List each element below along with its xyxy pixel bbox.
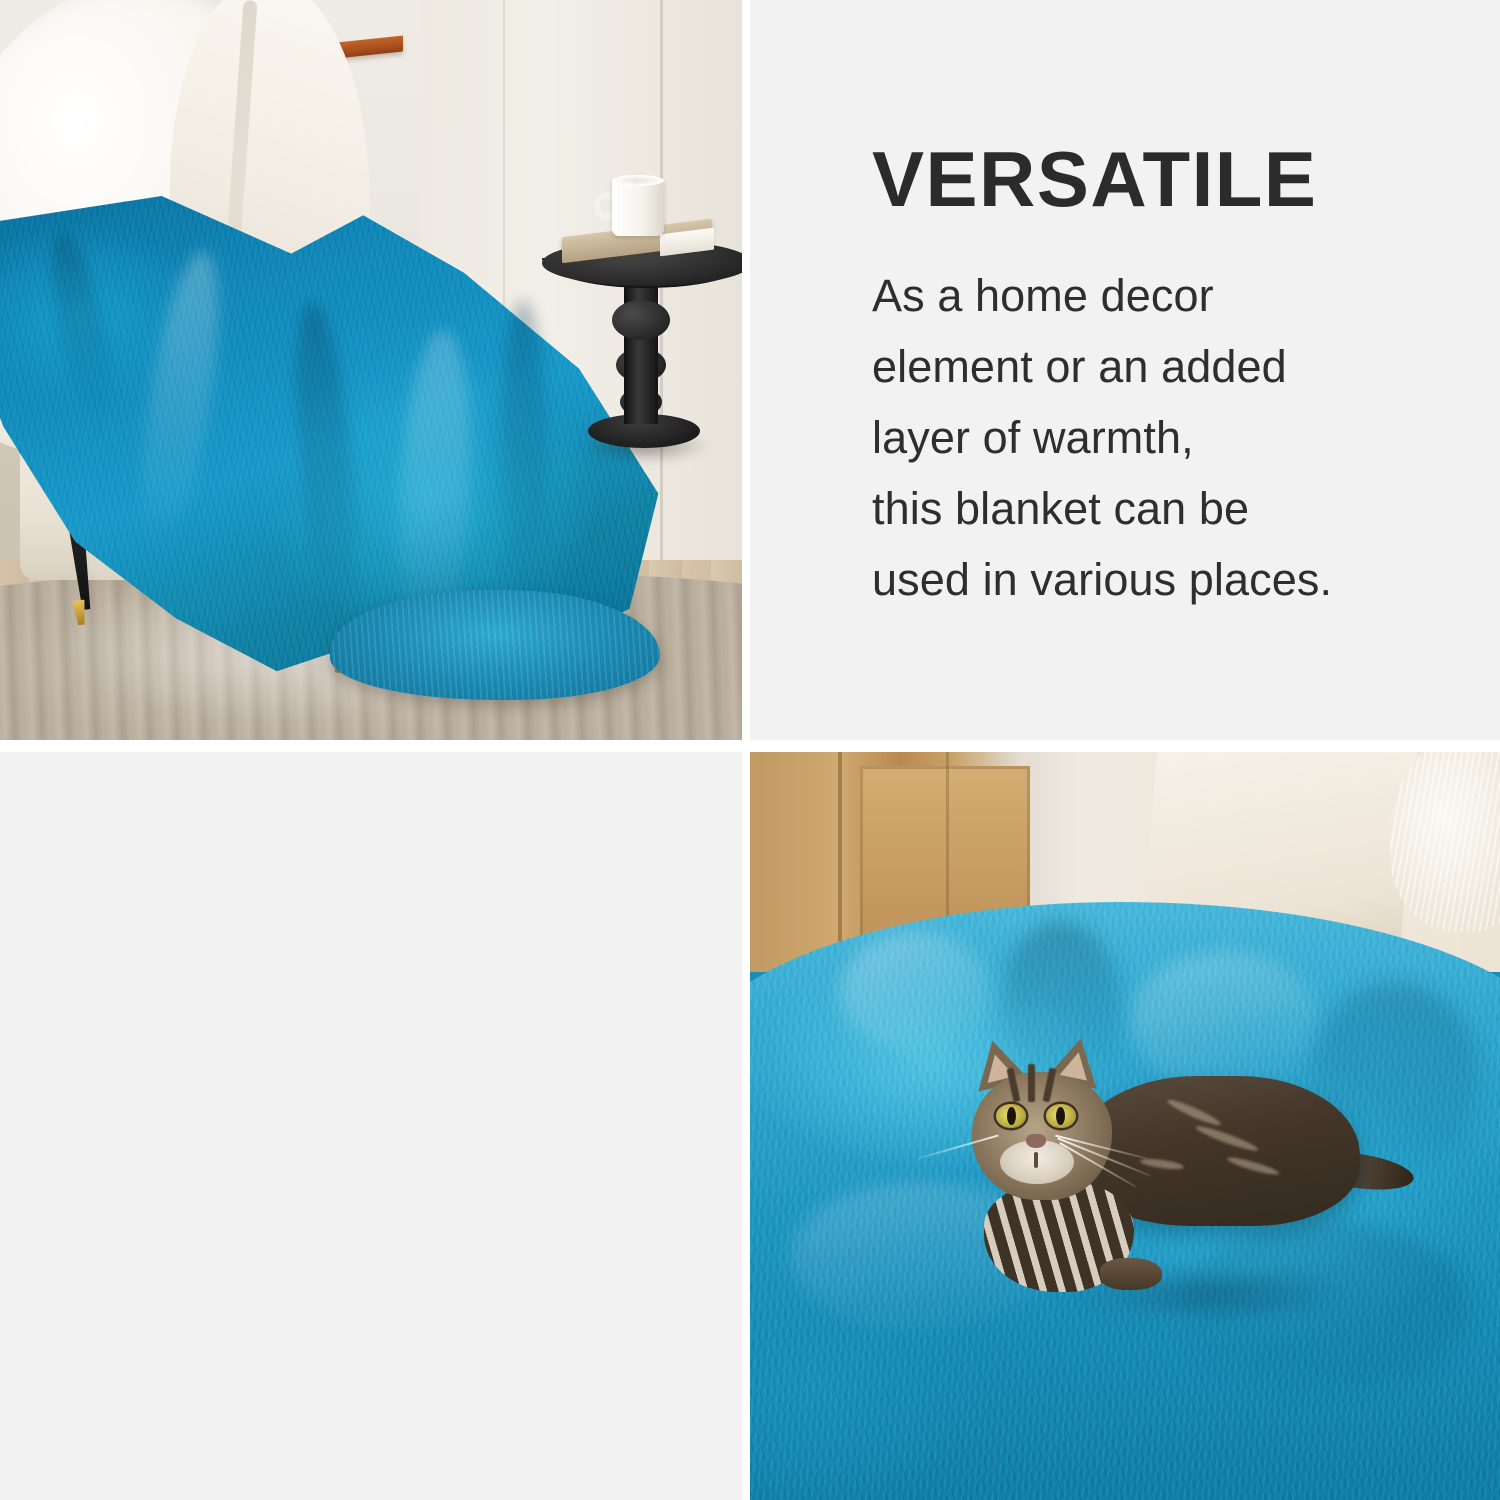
product-feature-collage: VERSATILE As a home decor element or an …	[0, 0, 1500, 1500]
cat-nose	[1026, 1134, 1046, 1148]
cat-mouth	[1034, 1152, 1038, 1168]
versatile-text-block: VERSATILE As a home decor element or an …	[872, 140, 1472, 615]
horizontal-gutter	[0, 740, 1500, 752]
cat-forehead-stripe	[1028, 1064, 1035, 1102]
chair-scene-image	[0, 0, 742, 740]
wood-seam	[838, 752, 842, 952]
cat-pupil-right	[1056, 1107, 1065, 1125]
versatile-body-line: used in various places.	[872, 544, 1472, 615]
durable-text-panel: DURABLE The premium material extended us…	[0, 752, 742, 1500]
versatile-body: As a home decor element or an added laye…	[872, 260, 1472, 615]
cat-pupil-left	[1007, 1107, 1016, 1125]
versatile-body-line: layer of warmth,	[872, 402, 1472, 473]
coffee-mug	[612, 178, 664, 236]
blanket-hem-texture	[330, 590, 660, 700]
cat-scene-photo	[750, 752, 1500, 1500]
cat-paw	[1100, 1258, 1162, 1290]
versatile-body-line: element or an added	[872, 331, 1472, 402]
versatile-text-panel: VERSATILE As a home decor element or an …	[750, 0, 1500, 740]
cat-inner-ear-right	[1060, 1049, 1093, 1080]
versatile-heading: VERSATILE	[872, 140, 1472, 218]
mug-rim	[612, 175, 664, 186]
versatile-body-line: As a home decor	[872, 260, 1472, 331]
chair-scene-photo	[0, 0, 742, 740]
wall-seam	[660, 0, 663, 600]
fluffy-pillow	[1390, 752, 1500, 932]
side-table-turning	[612, 300, 670, 340]
blanket-fold	[500, 300, 546, 600]
versatile-body-line: this blanket can be	[872, 473, 1472, 544]
cat-scene-image	[750, 752, 1500, 1500]
blanket-fold	[840, 932, 990, 1052]
tabby-cat	[950, 1042, 1380, 1332]
